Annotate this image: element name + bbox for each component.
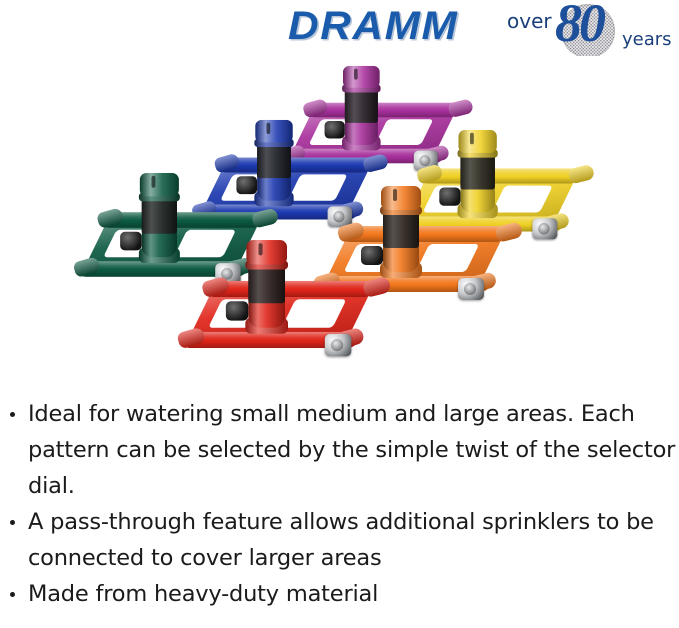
sled-runner-back — [102, 212, 268, 228]
bullet-dot-icon — [10, 412, 15, 417]
badge-number-label: 80 — [555, 0, 603, 50]
sled-runner-tip — [447, 98, 474, 118]
brand-wordmark: DRAMM — [288, 6, 458, 46]
badge-years-label: years — [622, 31, 672, 49]
feature-list: Ideal for watering small medium and larg… — [0, 396, 679, 612]
sled-runner-back — [421, 168, 584, 183]
bullet-dot-icon — [10, 520, 15, 525]
selector-dial-cap — [381, 186, 421, 210]
pass-through-hose-outlet — [325, 334, 352, 356]
sled-runner-back — [307, 103, 463, 118]
product-photo — [0, 56, 679, 386]
selector-dial-cap — [255, 120, 293, 143]
badge-over-label: over — [507, 11, 552, 31]
feature-text: Ideal for watering small medium and larg… — [28, 401, 675, 499]
selector-dial-cap — [458, 130, 496, 153]
sled-runner-back — [207, 281, 380, 297]
sprinkler-head — [245, 238, 288, 336]
bullet-dot-icon — [10, 592, 15, 597]
hose-inlet-knob — [226, 301, 248, 320]
brand-logo-area: DRAMM over 80 years — [0, 0, 679, 64]
feature-text: Made from heavy-duty material — [28, 581, 378, 607]
head-black-band — [142, 198, 177, 233]
list-item: Made from heavy-duty material — [0, 576, 679, 612]
list-item: A pass-through feature allows additional… — [0, 504, 679, 576]
sled-runner-tip — [567, 164, 595, 185]
hose-inlet-knob — [120, 232, 142, 251]
head-black-band — [383, 212, 419, 248]
sprinkler-head — [380, 184, 422, 280]
feature-bullet-section: Ideal for watering small medium and larg… — [0, 396, 679, 612]
red-sprinkler — [182, 238, 382, 364]
feature-text: A pass-through feature allows additional… — [28, 509, 654, 571]
selector-dial-cap — [246, 240, 287, 264]
sprinkler-head — [139, 171, 180, 265]
pass-through-hose-outlet — [532, 218, 557, 239]
sled-deck-cutout — [282, 299, 347, 328]
pass-through-hose-outlet — [458, 278, 484, 300]
anniversary-badge: over 80 years — [505, 2, 679, 60]
selector-dial-cap — [140, 173, 179, 197]
sled-deck-cutout — [416, 244, 480, 272]
list-item: Ideal for watering small medium and larg… — [0, 396, 679, 504]
head-black-band — [248, 267, 285, 304]
selector-dial-cap — [343, 66, 380, 88]
